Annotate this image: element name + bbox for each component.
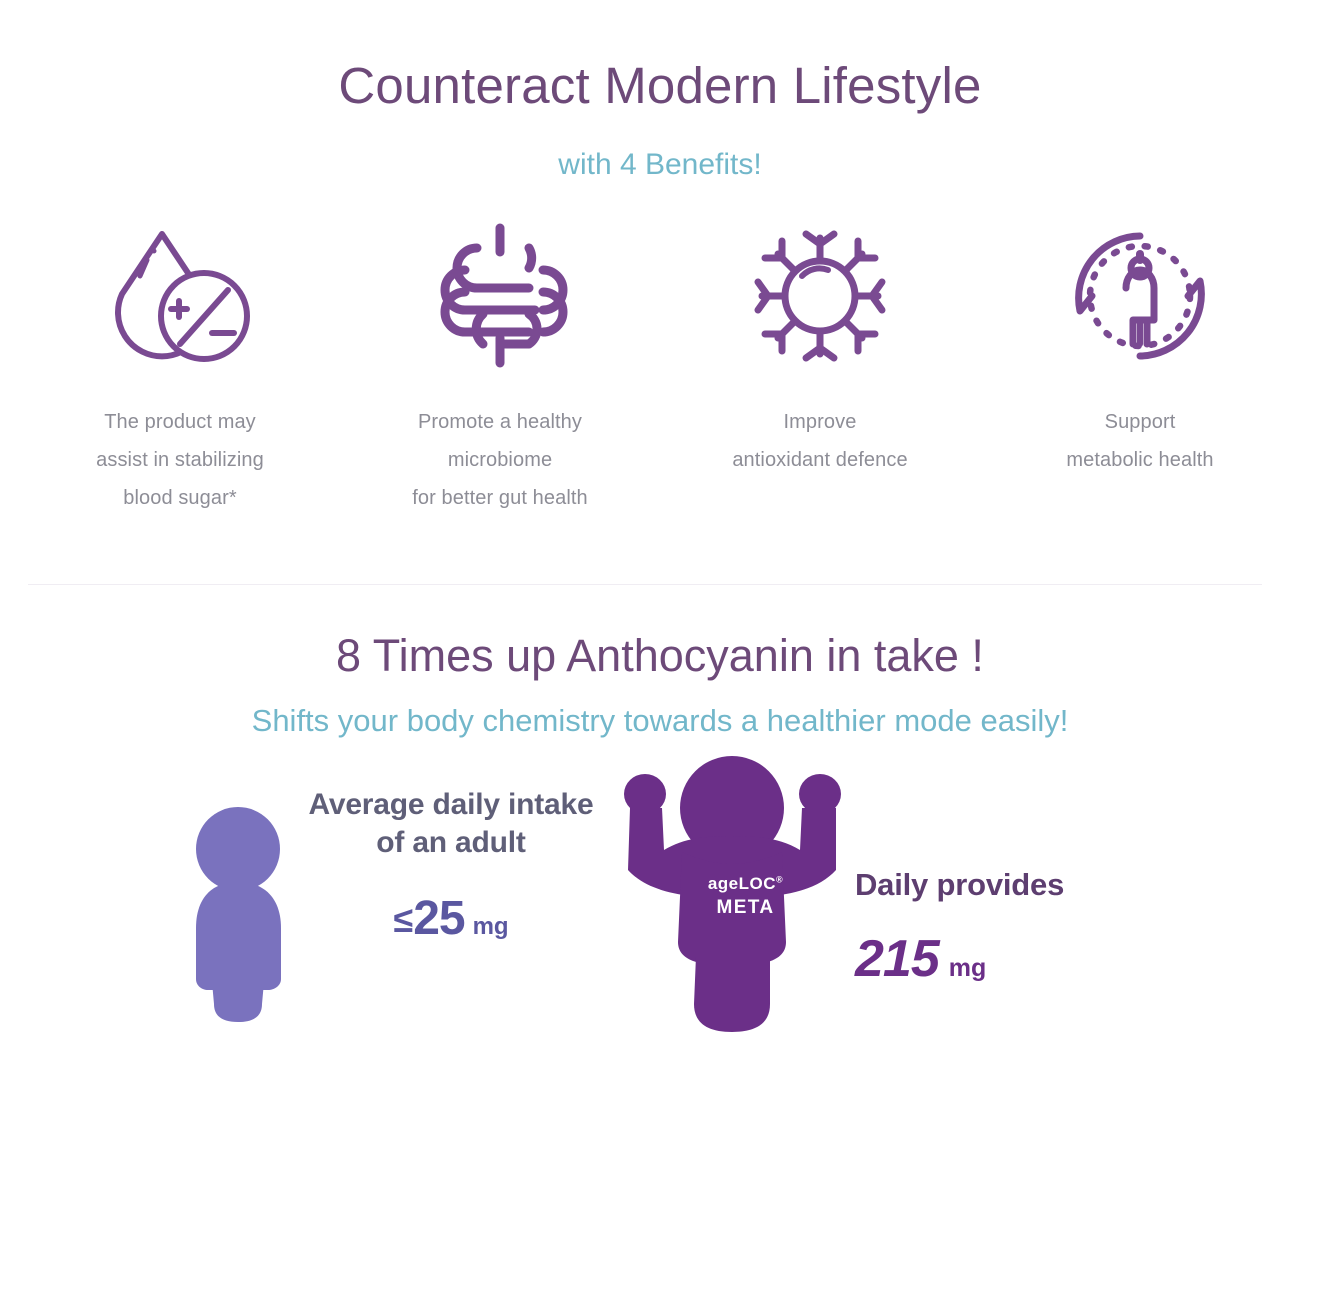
left-value: 25 xyxy=(413,892,464,945)
benefit-caption: Promote a healthy microbiome for better … xyxy=(412,403,588,517)
right-text-block: Daily provides 215mg xyxy=(855,866,1145,989)
comparison-right: ageLOC® META Daily provides 215mg xyxy=(620,746,1140,1086)
benefit-caption: The product may assist in stabilizing bl… xyxy=(96,403,264,517)
left-text-block: Average daily intake of an adult ≤25mg xyxy=(291,786,611,946)
benefit-caption: Support metabolic health xyxy=(1066,403,1213,479)
left-operator: ≤ xyxy=(393,899,413,940)
anthocyanin-section: 8 Times up Anthocyanin in take ! Shifts … xyxy=(0,586,1320,1302)
benefit-item-metabolic: Support metabolic health xyxy=(980,208,1300,479)
page-subtitle: with 4 Benefits! xyxy=(0,148,1320,181)
right-label: Daily provides xyxy=(855,866,1145,903)
section-two-subtitle: Shifts your body chemistry towards a hea… xyxy=(0,704,1320,738)
person-in-cycle-icon xyxy=(1060,208,1220,383)
blood-drop-plus-minus-icon xyxy=(100,208,260,383)
benefit-item-antioxidant: Improve antioxidant defence xyxy=(660,208,980,479)
intake-comparison: Average daily intake of an adult ≤25mg xyxy=(0,786,1320,1106)
benefits-row: The product may assist in stabilizing bl… xyxy=(20,208,1300,517)
infographic-page: Counteract Modern Lifestyle with 4 Benef… xyxy=(0,0,1320,1302)
benefits-section: Counteract Modern Lifestyle with 4 Benef… xyxy=(0,0,1320,586)
left-label: Average daily intake of an adult xyxy=(291,786,611,861)
right-amount: 215mg xyxy=(855,929,1145,989)
section-divider xyxy=(28,584,1262,585)
intestine-gut-icon xyxy=(425,208,575,383)
left-unit: mg xyxy=(473,913,509,940)
benefit-item-microbiome: Promote a healthy microbiome for better … xyxy=(340,208,660,517)
comparison-left: Average daily intake of an adult ≤25mg xyxy=(186,786,616,1086)
right-value: 215 xyxy=(855,930,939,988)
page-title: Counteract Modern Lifestyle xyxy=(0,58,1320,114)
strong-person-silhouette xyxy=(620,746,870,1041)
section-two-title: 8 Times up Anthocyanin in take ! xyxy=(0,631,1320,681)
benefit-caption: Improve antioxidant defence xyxy=(732,403,907,479)
right-unit: mg xyxy=(949,954,987,982)
benefit-item-blood-sugar: The product may assist in stabilizing bl… xyxy=(20,208,340,517)
left-amount: ≤25mg xyxy=(291,891,611,946)
standing-person-silhouette xyxy=(186,804,291,1029)
free-radical-cell-icon xyxy=(740,208,900,383)
